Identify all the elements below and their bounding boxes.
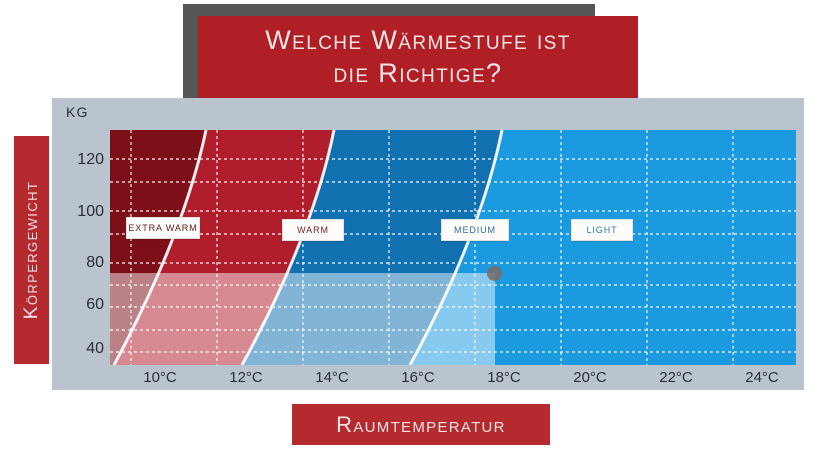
y-tick-60: 60	[60, 296, 104, 314]
y-axis-title-banner: Körpergewicht	[14, 136, 49, 364]
zone-label-warm[interactable]: WARM	[282, 219, 344, 241]
zone-label-medium[interactable]: MEDIUM	[441, 219, 509, 241]
y-tick-80: 80	[60, 254, 104, 272]
infographic-root: Welche Wärmestufe ist die Richtige? KG 1…	[0, 0, 826, 457]
x-tick-10c: 10°C	[131, 369, 189, 386]
x-tick-14c: 14°C	[303, 369, 361, 386]
y-tick-100: 100	[60, 203, 104, 221]
x-tick-24c: 24°C	[733, 369, 791, 386]
x-tick-22c: 22°C	[647, 369, 705, 386]
x-tick-16c: 16°C	[389, 369, 447, 386]
title-line-2: die Richtige?	[334, 57, 503, 90]
x-tick-12c: 12°C	[217, 369, 275, 386]
y-tick-120: 120	[60, 151, 104, 169]
x-axis-title-banner: Raumtemperatur	[292, 404, 550, 445]
title-banner: Welche Wärmestufe ist die Richtige?	[198, 16, 638, 98]
y-axis-unit-label: KG	[66, 104, 89, 120]
chart-plot-area[interactable]	[110, 130, 796, 365]
zone-label-light[interactable]: LIGHT	[571, 219, 633, 241]
x-tick-20c: 20°C	[561, 369, 619, 386]
y-tick-40: 40	[60, 340, 104, 358]
y-axis-title-text: Körpergewicht	[21, 181, 43, 320]
x-axis-title-text: Raumtemperatur	[336, 412, 506, 438]
zone-label-extra-warm[interactable]: EXTRA WARM	[126, 217, 200, 239]
title-line-1: Welche Wärmestufe ist	[265, 24, 570, 57]
x-tick-18c: 18°C	[475, 369, 533, 386]
selection-marker[interactable]	[487, 266, 502, 281]
